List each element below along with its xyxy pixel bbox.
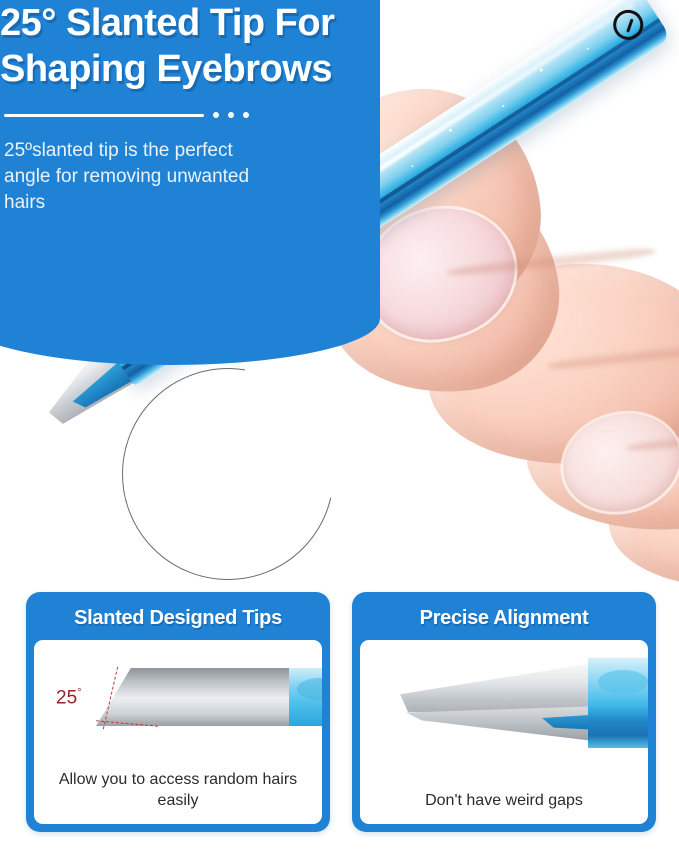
aligned-tips-diagram [360, 640, 648, 758]
divider-dot [243, 112, 249, 118]
card-body: Don't have weird gaps [360, 640, 648, 824]
blade-blue-handle [289, 668, 322, 726]
headline-line-2: Shaping Eyebrows [0, 48, 332, 90]
blue-handle [588, 658, 648, 748]
brand-circle-logo-icon [607, 4, 648, 45]
card-title: Precise Alignment [360, 600, 648, 640]
hero-subcopy: 25ºslanted tip is the perfect angle for … [4, 138, 254, 216]
headline-line-1: 25° Slanted Tip For [0, 2, 334, 44]
feature-card-precise-alignment: Precise Alignment Don't have weird gaps [352, 592, 656, 832]
card-caption: Don't have weird gaps [360, 790, 648, 824]
angle-unit: ° [77, 687, 81, 699]
product-infographic: 25° Slanted Tip For Shaping Eyebrows 25º… [0, 0, 679, 849]
divider-dot [213, 112, 219, 118]
hero-blue-panel: 25° Slanted Tip For Shaping Eyebrows 25º… [0, 0, 380, 365]
card-title: Slanted Designed Tips [34, 600, 322, 640]
feature-card-row: Slanted Designed Tips 25° Allow you to a… [26, 592, 656, 832]
divider-line [4, 114, 204, 117]
upper-tip-metal [400, 662, 600, 714]
divider-dot [228, 112, 234, 118]
page-title: 25° Slanted Tip For Shaping Eyebrows [0, 0, 430, 92]
card-body: 25° Allow you to access random hairs eas… [34, 640, 322, 824]
divider [4, 112, 340, 118]
card-caption: Allow you to access random hairs easily [34, 769, 322, 824]
slanted-blade-diagram: 25° [34, 640, 322, 758]
blade-metal [96, 668, 301, 726]
feature-card-slanted-tips: Slanted Designed Tips 25° Allow you to a… [26, 592, 330, 832]
angle-label: 25° [56, 687, 82, 709]
angle-value: 25 [56, 687, 77, 708]
